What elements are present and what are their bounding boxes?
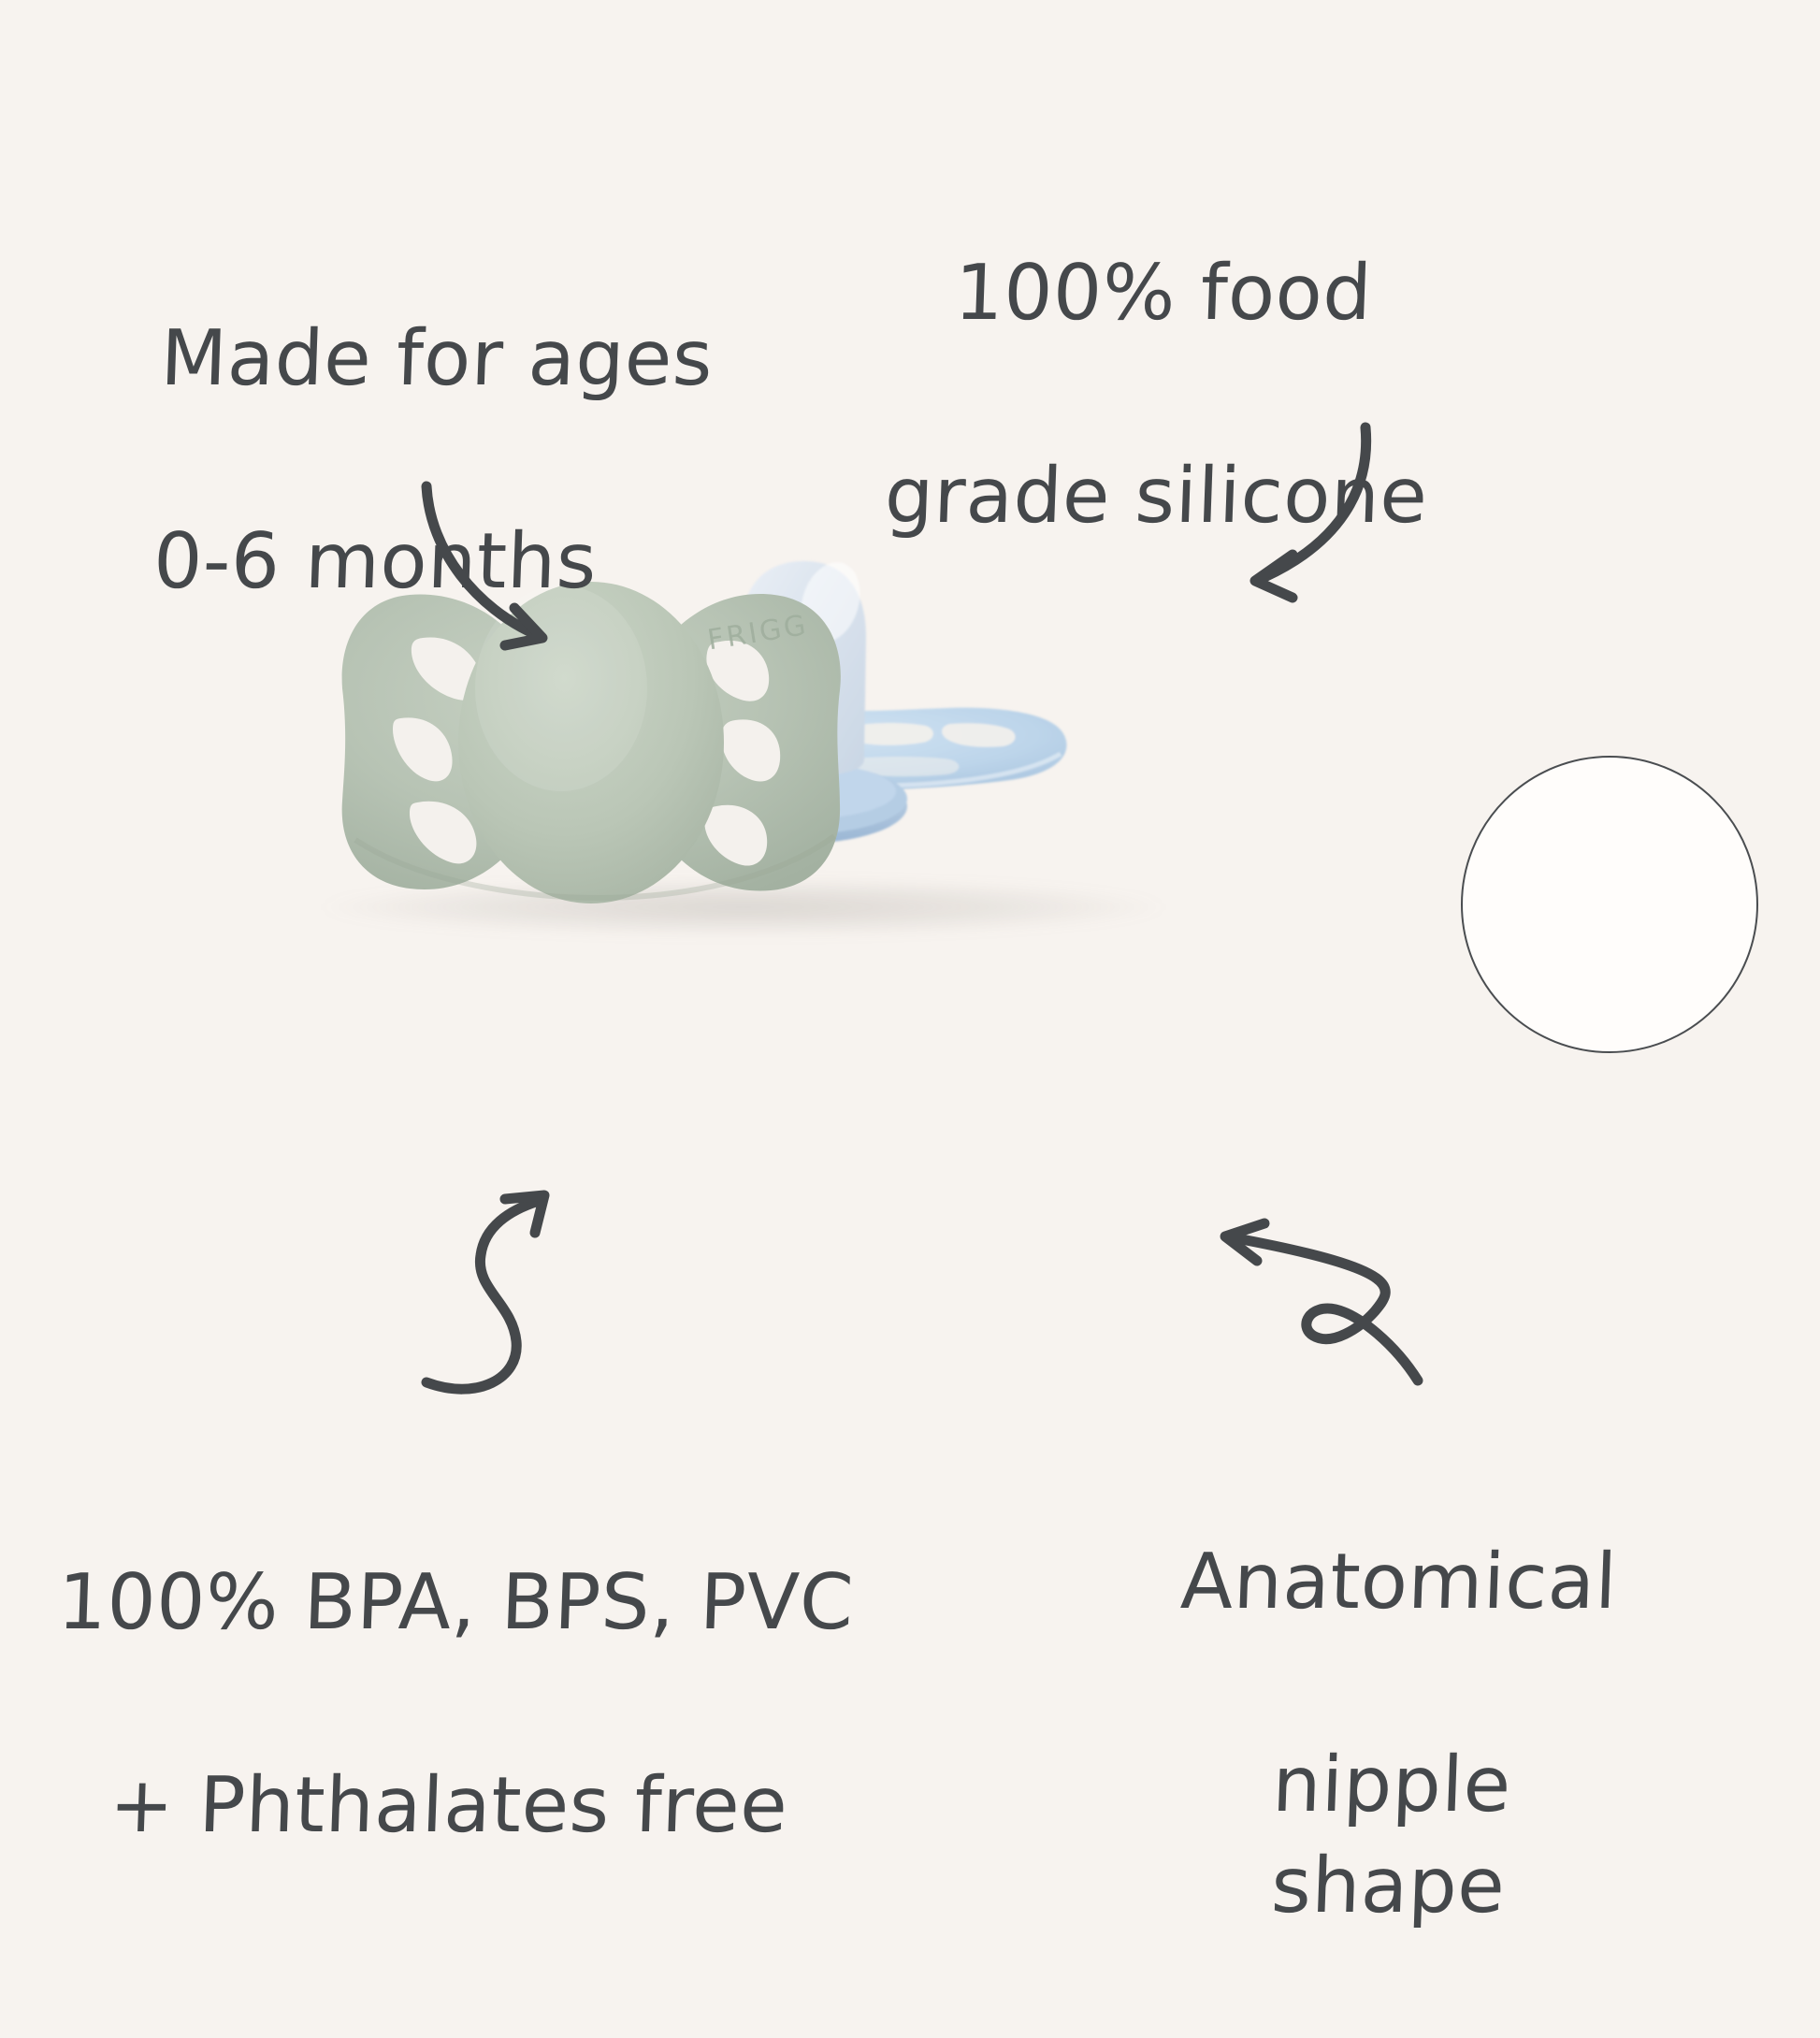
annotation-food-grade-silicone: 100% food grade silicone [879,142,1439,648]
arrow-s-curve-up-right [393,1186,664,1467]
annotation-line: 100% BPA, BPS, PVC [56,1553,856,1654]
annotation-line: 100% food [890,243,1437,344]
annotation-line: nipple shape [1168,1735,1611,1937]
annotation-line: Made for ages [159,309,715,410]
badge-seal-ring [1461,756,1758,1053]
annotation-line: + Phthalates free [49,1756,848,1857]
annotation-bpa-free: 100% BPA, BPS, PVC + Phthalates free [46,1452,859,1958]
annotation-anatomical-nipple: Anatomical nipple shape [1164,1431,1622,2038]
annotation-line: 0-6 months [152,512,707,613]
annotation-made-for-ages: Made for ages 0-6 months [149,208,718,714]
annotation-line: grade silicone [883,446,1429,547]
infographic-canvas: FRIGG FRIGG [0,0,1820,1820]
made-in-denmark-badge: 100% MADE IN DENMARK [1461,756,1758,1053]
annotation-line: Anatomical [1179,1532,1619,1633]
